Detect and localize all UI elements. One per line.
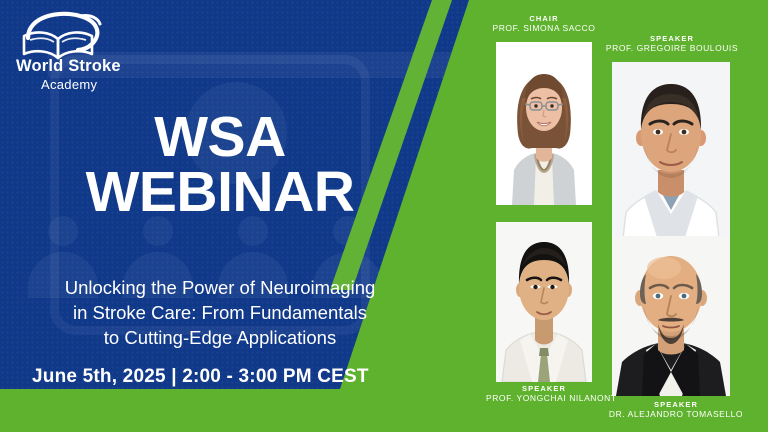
subtitle-line-1: Unlocking the Power of Neuroimaging [8, 276, 432, 301]
caption-gregoire-boulouis: SPEAKER PROF. GREGOIRE BOULOUIS [596, 34, 748, 54]
caption-simona-sacco: CHAIR PROF. SIMONA SACCO [490, 14, 598, 34]
portrait-card-alejandro-tomasello [612, 236, 730, 396]
portrait-photo-simona-sacco [496, 42, 592, 205]
page-title-line-2: WEBINAR [0, 165, 440, 220]
caption-role: SPEAKER [486, 384, 602, 393]
portrait-card-yongchai-nilanont [496, 222, 592, 382]
logo-line-1: World Stroke [16, 58, 121, 75]
caption-role: SPEAKER [596, 34, 748, 43]
webinar-subtitle: Unlocking the Power of Neuroimaging in S… [8, 276, 432, 351]
caption-yongchai-nilanont: SPEAKER PROF. YONGCHAI NILANONT [486, 384, 602, 404]
caption-role: CHAIR [490, 14, 598, 23]
logo-line-2: Academy [41, 78, 121, 91]
caption-name: DR. ALEJANDRO TOMASELLO [596, 409, 756, 420]
caption-alejandro-tomasello: SPEAKER DR. ALEJANDRO TOMASELLO [596, 400, 756, 420]
caption-role: SPEAKER [596, 400, 756, 409]
page-title-line-1: WSA [0, 110, 440, 165]
logo-wordmark: World Stroke Academy [16, 58, 121, 91]
portrait-card-simona-sacco [496, 42, 592, 205]
webinar-dateline: June 5th, 2025 | 2:00 - 3:00 PM CEST [32, 366, 369, 388]
portrait-photo-alejandro-tomasello [612, 236, 730, 396]
caption-name: PROF. YONGCHAI NILANONT [486, 393, 602, 404]
webinar-poster: World Stroke Academy WSA WEBINAR Unlocki… [0, 0, 768, 432]
caption-name: PROF. SIMONA SACCO [490, 23, 598, 34]
portrait-photo-gregoire-boulouis [612, 62, 730, 247]
page-title: WSA WEBINAR [0, 110, 440, 219]
world-stroke-academy-logo: World Stroke Academy [14, 8, 144, 86]
portrait-photo-yongchai-nilanont [496, 222, 592, 382]
caption-name: PROF. GREGOIRE BOULOUIS [596, 43, 748, 54]
subtitle-line-3: to Cutting-Edge Applications [8, 326, 432, 351]
subtitle-line-2: in Stroke Care: From Fundamentals [8, 301, 432, 326]
open-book-swoosh-icon [14, 8, 144, 62]
portrait-card-gregoire-boulouis [612, 62, 730, 247]
